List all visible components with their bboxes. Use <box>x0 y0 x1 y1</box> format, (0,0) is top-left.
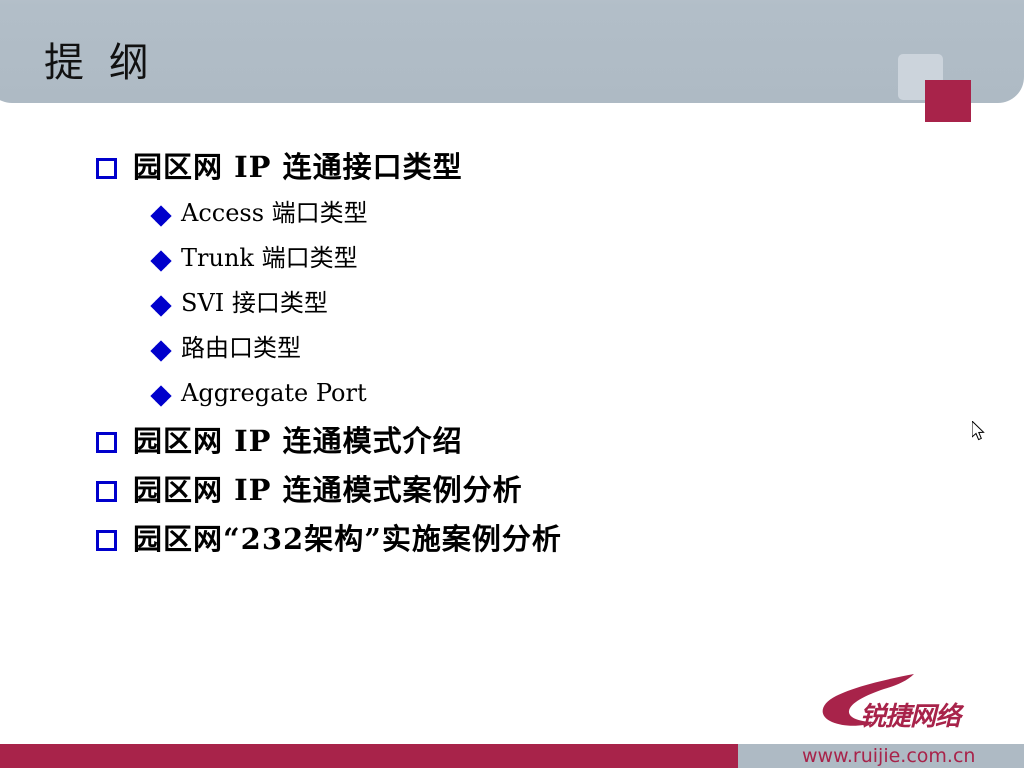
presentation-slide: 提 纲 园区网 IP 连通接口类型 Access 端口类型 Trunk 端口类型 <box>0 0 1024 768</box>
hollow-square-bullet-icon <box>96 158 115 177</box>
footer-website-url: www.ruijie.com.cn <box>802 745 975 768</box>
outline-item-level1[interactable]: 园区网“232架构”实施案例分析 <box>0 520 1024 569</box>
outline-item-level1[interactable]: 园区网 IP 连通模式介绍 <box>0 422 1024 471</box>
outline-item-level2[interactable]: Access 端口类型 <box>0 197 1024 242</box>
outline-item-level1[interactable]: 园区网 IP 连通接口类型 <box>0 148 1024 197</box>
outline-subitem-label: Aggregate Port <box>181 377 367 409</box>
hollow-square-bullet-icon <box>96 481 115 500</box>
diamond-cluster-bullet-icon <box>152 387 169 404</box>
diamond-cluster-bullet-icon <box>152 252 169 269</box>
outline-item-level2[interactable]: Trunk 端口类型 <box>0 242 1024 287</box>
outline-subitem-label: Trunk 端口类型 <box>181 242 358 274</box>
outline-item-level2[interactable]: 路由口类型 <box>0 332 1024 377</box>
diamond-cluster-bullet-icon <box>152 342 169 359</box>
outline-subitem-label: 路由口类型 <box>181 332 301 364</box>
outline-sublist: Access 端口类型 Trunk 端口类型 SVI 接口类型 路由口类型 <box>0 197 1024 422</box>
slide-title: 提 纲 <box>44 40 155 86</box>
outline-subitem-label: Access 端口类型 <box>181 197 368 229</box>
decorative-crimson-square-icon <box>925 80 971 122</box>
outline-item-label: 园区网 IP 连通模式介绍 <box>133 422 463 460</box>
outline-item-level2[interactable]: Aggregate Port <box>0 377 1024 422</box>
hollow-square-bullet-icon <box>96 432 115 451</box>
outline-list: 园区网 IP 连通接口类型 Access 端口类型 Trunk 端口类型 SVI… <box>0 148 1024 569</box>
outline-subitem-label: SVI 接口类型 <box>181 287 328 319</box>
outline-item-level2[interactable]: SVI 接口类型 <box>0 287 1024 332</box>
brand-logo: 锐捷网络 <box>818 672 978 734</box>
outline-item-label: 园区网 IP 连通接口类型 <box>133 148 463 186</box>
brand-name: 锐捷网络 <box>860 696 960 733</box>
diamond-cluster-bullet-icon <box>152 297 169 314</box>
outline-item-label: 园区网 IP 连通模式案例分析 <box>133 471 523 509</box>
outline-item-label: 园区网“232架构”实施案例分析 <box>133 520 562 558</box>
hollow-square-bullet-icon <box>96 530 115 549</box>
diamond-cluster-bullet-icon <box>152 207 169 224</box>
footer-bar-left <box>0 744 738 768</box>
outline-item-level1[interactable]: 园区网 IP 连通模式案例分析 <box>0 471 1024 520</box>
